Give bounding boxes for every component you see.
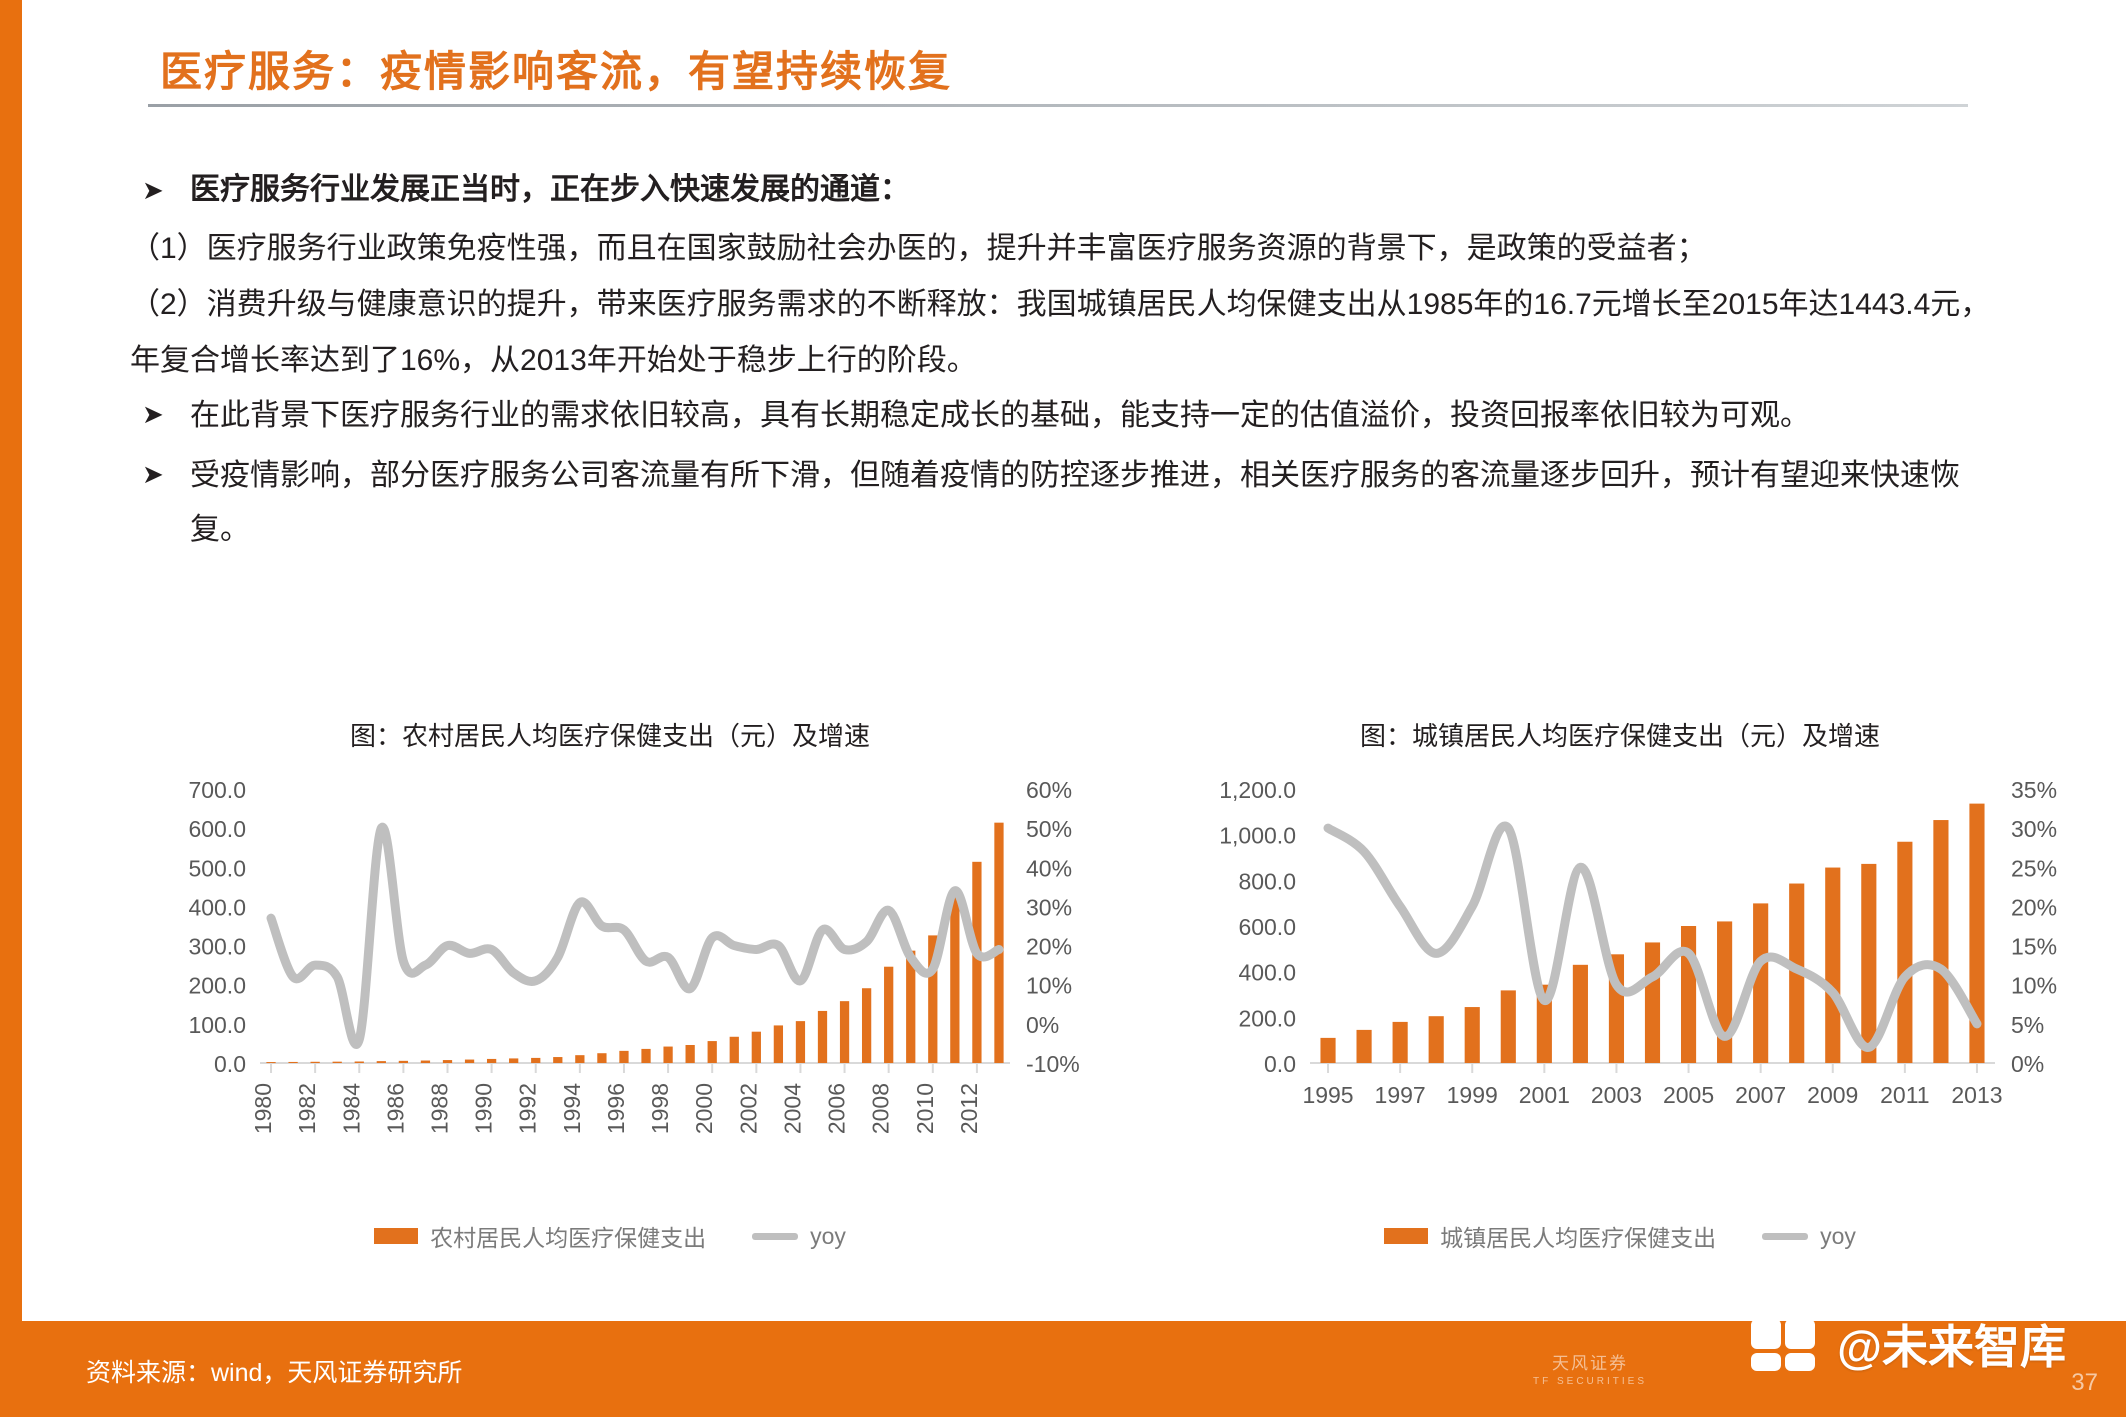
x-axis-tick-label: 2001 xyxy=(1519,1082,1570,1108)
legend-line-swatch-icon xyxy=(752,1233,798,1240)
x-axis-tick-label: 2011 xyxy=(1880,1082,1929,1108)
y2-axis-tick-label: 0% xyxy=(2011,1051,2044,1077)
bar xyxy=(730,1037,739,1063)
bar xyxy=(1357,1030,1372,1063)
bar xyxy=(487,1059,496,1063)
bar xyxy=(1717,921,1732,1063)
y2-axis-tick-label: 5% xyxy=(2011,1012,2044,1038)
chart-legend: 城镇居民人均医疗保健支出yoy xyxy=(1140,1219,2100,1253)
x-axis-tick-label: 2012 xyxy=(956,1083,982,1134)
y-axis-tick-label: 1,000.0 xyxy=(1219,823,1296,849)
x-axis-tick-label: 2006 xyxy=(824,1083,850,1134)
source-note: 资料来源：wind，天风证券研究所 xyxy=(86,1353,462,1389)
bar xyxy=(994,823,1003,1063)
chart-title: 图：城镇居民人均医疗保健支出（元）及增速 xyxy=(1140,716,2100,753)
chart-plot-area: 0.0200.0400.0600.0800.01,000.01,200.00%5… xyxy=(1140,753,2100,1213)
y-axis-tick-label: 200.0 xyxy=(1238,1005,1296,1031)
bar xyxy=(862,988,871,1063)
bar xyxy=(1465,1007,1480,1063)
bar xyxy=(1825,868,1840,1063)
bar xyxy=(333,1062,342,1063)
bar xyxy=(752,1032,761,1063)
y2-axis-tick-label: 10% xyxy=(1026,973,1072,999)
page-number: 37 xyxy=(2071,1369,2098,1397)
x-axis-tick-label: 1995 xyxy=(1302,1082,1353,1108)
y2-axis-tick-label: 20% xyxy=(1026,934,1072,960)
y-axis-tick-label: 500.0 xyxy=(188,855,246,881)
x-axis-tick-label: 1980 xyxy=(250,1083,276,1134)
x-axis-tick-label: 1990 xyxy=(471,1083,497,1134)
chart-svg: 0.0100.0200.0300.0400.0500.0600.0700.0-1… xyxy=(110,753,1110,1213)
y2-axis-tick-label: 25% xyxy=(2011,855,2057,881)
x-axis-tick-label: 2013 xyxy=(1951,1082,2002,1108)
bullet-text: 在此背景下医疗服务行业的需求依旧较高，具有长期稳定成长的基础，能支持一定的估值溢… xyxy=(190,389,1810,443)
bar xyxy=(288,1062,297,1063)
bar xyxy=(421,1061,430,1063)
bar xyxy=(575,1055,584,1063)
firm-name-en: TF SECURITIES xyxy=(1500,1376,1680,1387)
x-axis-tick-label: 1996 xyxy=(603,1083,629,1134)
bar xyxy=(443,1060,452,1063)
bar xyxy=(619,1051,628,1063)
firm-name-cn: 天风证券 xyxy=(1500,1349,1680,1374)
y-axis-tick-label: 0.0 xyxy=(1264,1051,1296,1077)
y2-axis-tick-label: 50% xyxy=(1026,816,1072,842)
bar xyxy=(399,1061,408,1063)
y-axis-tick-label: 1,200.0 xyxy=(1219,777,1296,803)
toutiao-logo-icon xyxy=(1749,1313,1821,1375)
bar xyxy=(641,1049,650,1063)
x-axis-tick-label: 1998 xyxy=(647,1083,673,1134)
chart-title: 图：农村居民人均医疗保健支出（元）及增速 xyxy=(110,716,1110,753)
y-axis-tick-label: 600.0 xyxy=(188,816,246,842)
bar xyxy=(1933,820,1948,1063)
bar xyxy=(355,1062,364,1063)
bar xyxy=(840,1001,849,1063)
bullet-arrow-icon: ➤ xyxy=(130,165,190,215)
bar xyxy=(377,1061,386,1063)
bar xyxy=(465,1060,474,1063)
paragraph-2: （2）消费升级与健康意识的提升，带来医疗服务需求的不断释放：我国城镇居民人均保健… xyxy=(130,277,2010,389)
y2-axis-tick-label: 30% xyxy=(1026,894,1072,920)
chart-urban-health-expenditure: 图：城镇居民人均医疗保健支出（元）及增速 0.0200.0400.0600.08… xyxy=(1140,716,2100,1253)
legend-label: 城镇居民人均医疗保健支出 xyxy=(1440,1219,1716,1253)
y2-axis-tick-label: -10% xyxy=(1026,1051,1080,1077)
x-axis-tick-label: 2004 xyxy=(779,1083,805,1134)
bar xyxy=(531,1058,540,1063)
x-axis-tick-label: 1992 xyxy=(515,1083,541,1134)
paragraph-1: （1）医疗服务行业政策免疫性强，而且在国家鼓励社会办医的，提升并丰富医疗服务资源… xyxy=(130,221,2010,277)
y2-axis-tick-label: 35% xyxy=(2011,777,2057,803)
bullet-row: ➤ 在此背景下医疗服务行业的需求依旧较高，具有长期稳定成长的基础，能支持一定的估… xyxy=(130,389,2010,443)
bar xyxy=(1753,903,1768,1063)
y-axis-tick-label: 0.0 xyxy=(214,1051,246,1077)
bar xyxy=(972,862,981,1063)
bar xyxy=(796,1021,805,1063)
y-axis-tick-label: 600.0 xyxy=(1238,914,1296,940)
y-axis-tick-label: 100.0 xyxy=(188,1012,246,1038)
y2-axis-tick-label: 20% xyxy=(2011,894,2057,920)
y-axis-tick-label: 700.0 xyxy=(188,777,246,803)
x-axis-tick-label: 1988 xyxy=(427,1083,453,1134)
y2-axis-tick-label: 15% xyxy=(2011,934,2057,960)
bar xyxy=(1429,1016,1444,1063)
bar xyxy=(311,1062,320,1063)
x-axis-tick-label: 1999 xyxy=(1447,1082,1498,1108)
x-axis-tick-label: 2005 xyxy=(1663,1082,1714,1108)
x-axis-tick-label: 2002 xyxy=(735,1083,761,1134)
left-accent-bar xyxy=(0,0,22,1417)
watermark: @未来智库 xyxy=(1749,1311,2066,1377)
x-axis-tick-label: 2009 xyxy=(1807,1082,1858,1108)
x-axis-tick-label: 1982 xyxy=(294,1083,320,1134)
legend-entry[interactable]: yoy xyxy=(752,1223,846,1250)
x-axis-tick-label: 1997 xyxy=(1375,1082,1426,1108)
y-axis-tick-label: 400.0 xyxy=(188,894,246,920)
bar xyxy=(818,1011,827,1063)
y-axis-tick-label: 400.0 xyxy=(1238,960,1296,986)
legend-label: 农村居民人均医疗保健支出 xyxy=(430,1219,706,1253)
bar xyxy=(686,1045,695,1063)
bullet-arrow-icon: ➤ xyxy=(130,449,190,499)
legend-entry[interactable]: yoy xyxy=(1762,1223,1856,1250)
chart-svg: 0.0200.0400.0600.0800.01,000.01,200.00%5… xyxy=(1140,753,2100,1213)
legend-line-swatch-icon xyxy=(1762,1233,1808,1240)
x-axis-tick-label: 2008 xyxy=(868,1083,894,1134)
chart-plot-area: 0.0100.0200.0300.0400.0500.0600.0700.0-1… xyxy=(110,753,1110,1213)
bar xyxy=(266,1062,275,1063)
x-axis-tick-label: 1986 xyxy=(382,1083,408,1134)
bar xyxy=(774,1025,783,1063)
bullet-row: ➤ 医疗服务行业发展正当时，正在步入快速发展的通道： xyxy=(130,165,2010,215)
chart-legend: 农村居民人均医疗保健支出yoy xyxy=(110,1219,1110,1253)
x-axis-tick-label: 2007 xyxy=(1735,1082,1786,1108)
title-divider xyxy=(148,104,1968,107)
chart-rural-health-expenditure: 图：农村居民人均医疗保健支出（元）及增速 0.0100.0200.0300.04… xyxy=(110,716,1110,1253)
bar xyxy=(509,1058,518,1063)
bar xyxy=(663,1047,672,1063)
bar xyxy=(950,892,959,1063)
legend-label: yoy xyxy=(1820,1223,1856,1250)
bar xyxy=(1861,864,1876,1063)
x-axis-tick-label: 1984 xyxy=(338,1083,364,1134)
x-axis-tick-label: 2000 xyxy=(691,1083,717,1134)
bullet-row: ➤ 受疫情影响，部分医疗服务公司客流量有所下滑，但随着疫情的防控逐步推进，相关医… xyxy=(130,449,2010,557)
y2-axis-tick-label: 30% xyxy=(2011,816,2057,842)
y2-axis-tick-label: 0% xyxy=(1026,1012,1059,1038)
x-axis-tick-label: 2010 xyxy=(912,1083,938,1134)
bar xyxy=(1681,926,1696,1063)
y-axis-tick-label: 800.0 xyxy=(1238,868,1296,894)
x-axis-tick-label: 1994 xyxy=(559,1083,585,1134)
y2-axis-tick-label: 10% xyxy=(2011,973,2057,999)
legend-label: yoy xyxy=(810,1223,846,1250)
bullet-text: 医疗服务行业发展正当时，正在步入快速发展的通道： xyxy=(190,165,910,215)
bullet-text: 受疫情影响，部分医疗服务公司客流量有所下滑，但随着疫情的防控逐步推进，相关医疗服… xyxy=(190,449,2010,557)
bar xyxy=(597,1053,606,1063)
y-axis-tick-label: 300.0 xyxy=(188,934,246,960)
bar xyxy=(1897,842,1912,1063)
page-title: 医疗服务：疫情影响客流，有望持续恢复 xyxy=(160,38,952,99)
legend-entry[interactable]: 农村居民人均医疗保健支出 xyxy=(374,1219,706,1253)
x-axis-tick-label: 2003 xyxy=(1591,1082,1642,1108)
bar xyxy=(708,1041,717,1063)
legend-bar-swatch-icon xyxy=(1384,1228,1428,1244)
y-axis-tick-label: 200.0 xyxy=(188,973,246,999)
firm-mark: 天风证券 TF SECURITIES xyxy=(1500,1349,1680,1387)
legend-entry[interactable]: 城镇居民人均医疗保健支出 xyxy=(1384,1219,1716,1253)
bullet-arrow-icon: ➤ xyxy=(130,389,190,439)
bar xyxy=(553,1057,562,1063)
bar xyxy=(1320,1038,1335,1063)
y2-axis-tick-label: 60% xyxy=(1026,777,1072,803)
y2-axis-tick-label: 40% xyxy=(1026,855,1072,881)
bar xyxy=(1645,942,1660,1063)
bar xyxy=(1573,965,1588,1063)
bar xyxy=(1501,990,1516,1063)
body-copy: ➤ 医疗服务行业发展正当时，正在步入快速发展的通道： （1）医疗服务行业政策免疫… xyxy=(130,165,2010,563)
watermark-text: @未来智库 xyxy=(1837,1311,2066,1377)
bar xyxy=(1393,1022,1408,1063)
legend-bar-swatch-icon xyxy=(374,1228,418,1244)
bar xyxy=(884,967,893,1063)
